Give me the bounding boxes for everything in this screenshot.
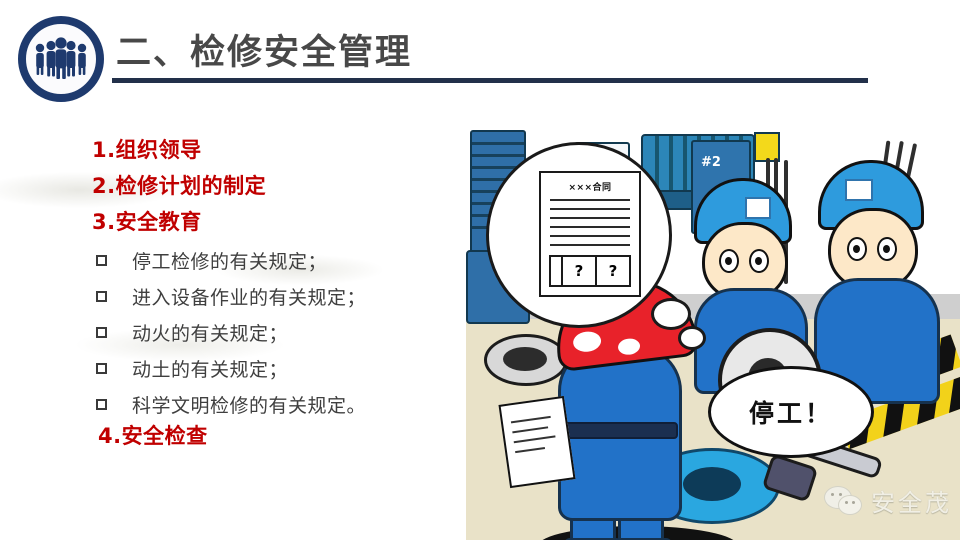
list-item-label: 停工检修的有关规定；: [132, 247, 327, 274]
list-item: 动土的有关规定；: [96, 352, 288, 384]
equipment-label: #2: [701, 156, 721, 170]
list-heading-3: 3.安全教育: [92, 206, 202, 236]
list-item-label: 进入设备作业的有关规定；: [132, 283, 366, 310]
signature-cell-empty: [551, 257, 563, 285]
paper-document-icon: [498, 396, 575, 488]
square-bullet-icon: [96, 255, 107, 266]
speech-bubble: 停工！: [708, 366, 874, 458]
square-bullet-icon: [96, 327, 107, 338]
thought-bubble: ×××合同 ? ?: [486, 142, 672, 328]
square-bullet-icon: [96, 291, 107, 302]
group-of-people-icon: [18, 16, 104, 102]
list-item: 科学文明检修的有关规定。: [96, 388, 366, 420]
contract-lines: [550, 199, 630, 253]
list-item: 进入设备作业的有关规定；: [96, 280, 366, 312]
slide: 二、检修安全管理 1.组织领导 2.检修计划的制定 3.安全教育 停工检修的有关…: [0, 0, 960, 540]
eye-icon: [719, 249, 739, 273]
illustration-image: #2: [466, 130, 960, 540]
wechat-icon: [824, 486, 862, 516]
eye-icon: [847, 237, 867, 261]
helmet-badge-icon: [745, 197, 771, 219]
pipe-ring-icon: [484, 334, 568, 386]
question-mark-2: ?: [597, 257, 629, 285]
list-heading-1: 1.组织领导: [92, 134, 202, 164]
list-item-label: 动土的有关规定；: [132, 355, 288, 382]
square-bullet-icon: [96, 399, 107, 410]
content-list: 1.组织领导 2.检修计划的制定 3.安全教育 停工检修的有关规定； 进入设备作…: [0, 118, 466, 538]
thought-bubble-dot: [651, 298, 691, 330]
speech-bubble-text: 停工！: [749, 394, 833, 430]
list-item: 停工检修的有关规定；: [96, 244, 327, 276]
list-heading-2: 2.检修计划的制定: [92, 170, 266, 200]
contract-title: ×××合同: [541, 180, 639, 193]
thought-bubble-dot-small: [678, 326, 706, 350]
helmet-badge-icon: [845, 179, 873, 201]
eye-icon: [877, 237, 897, 261]
list-item: 动火的有关规定；: [96, 316, 288, 348]
wechat-watermark: 安全茂: [824, 483, 952, 518]
slide-header: 二、检修安全管理: [0, 0, 960, 104]
worker-belt: [562, 422, 678, 439]
wechat-account-name: 安全茂: [871, 483, 952, 518]
list-item-label: 科学文明检修的有关规定。: [132, 391, 366, 418]
list-item-label: 动火的有关规定；: [132, 319, 288, 346]
page-title: 二、检修安全管理: [116, 24, 412, 75]
list-heading-4: 4.安全检查: [98, 420, 208, 450]
question-mark-1: ?: [563, 257, 597, 285]
contract-signature-boxes: ? ?: [549, 255, 631, 287]
eye-icon: [749, 249, 769, 273]
contract-document-icon: ×××合同 ? ?: [539, 171, 641, 297]
square-bullet-icon: [96, 363, 107, 374]
header-divider: [112, 78, 868, 83]
